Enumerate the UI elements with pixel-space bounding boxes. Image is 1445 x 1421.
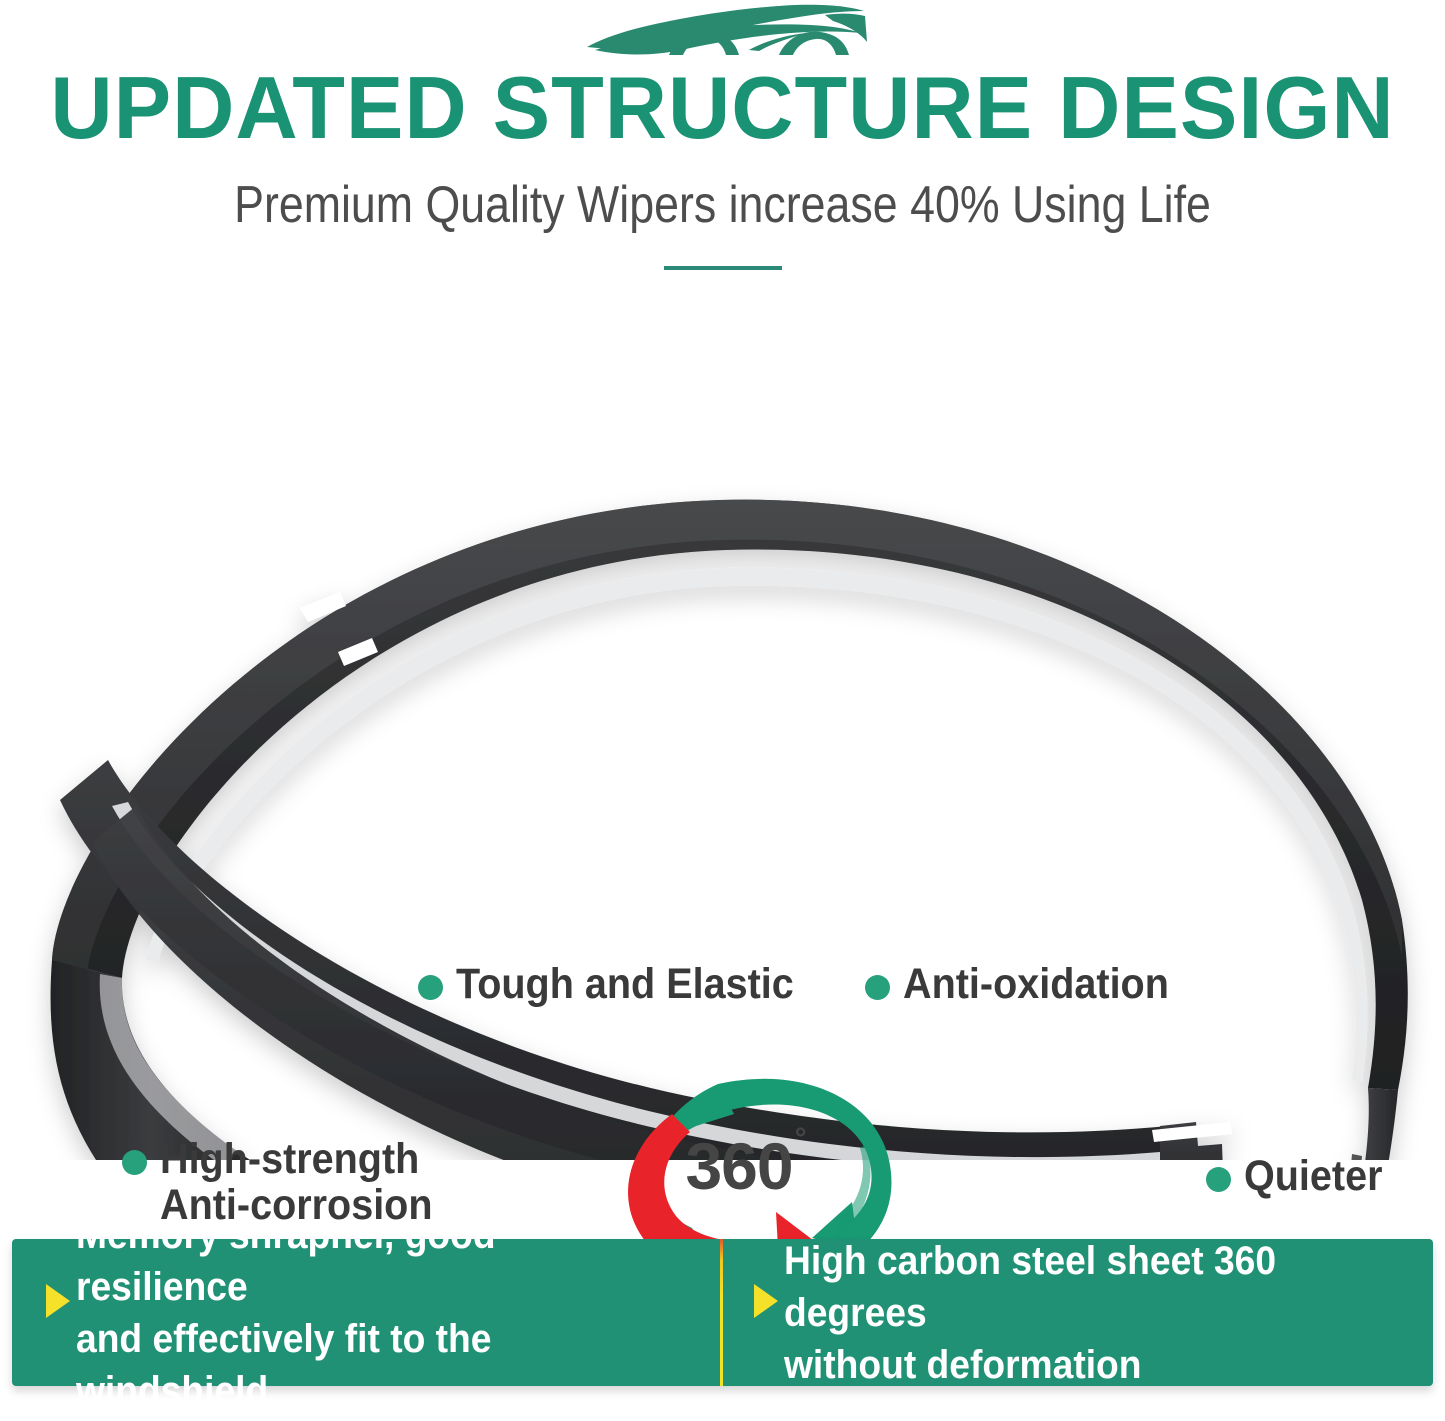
banner-text: Memory shrapnel, good resilience and eff… (76, 1209, 675, 1417)
banner-panel-high-carbon-steel: High carbon steel sheet 360 degrees with… (720, 1239, 1433, 1386)
bottom-feature-banner: Memory shrapnel, good resilience and eff… (12, 1239, 1433, 1386)
feature-tough-and-elastic: Tough and Elastic (418, 961, 823, 1007)
bullet-dot-icon (865, 975, 890, 1000)
banner-panel-memory-shrapnel: Memory shrapnel, good resilience and eff… (12, 1239, 720, 1386)
bullet-dot-icon (418, 975, 443, 1000)
feature-label: Quieter (1244, 1153, 1383, 1199)
banner-text: High carbon steel sheet 360 degrees with… (784, 1235, 1388, 1391)
product-hero-section: Tough and Elastic Anti-oxidation High-st… (0, 400, 1445, 1160)
feature-anti-oxidation: Anti-oxidation (865, 961, 1192, 1007)
feature-quieter: Quieter (1206, 1153, 1395, 1199)
header-section: UPDATED STRUCTURE DESIGN Premium Quality… (0, 0, 1445, 300)
bullet-dot-icon (1206, 1167, 1231, 1192)
page-subtitle: Premium Quality Wipers increase 40% Usin… (101, 175, 1344, 235)
feature-label: Tough and Elastic (456, 961, 794, 1007)
triangle-right-icon (754, 1284, 778, 1318)
feature-label: Anti-oxidation (903, 961, 1169, 1007)
sports-car-silhouette-icon (573, 2, 873, 60)
bullet-dot-icon (122, 1150, 147, 1175)
wiper-blade-steel-strip-image (0, 400, 1445, 1160)
title-divider (664, 266, 782, 270)
page-title: UPDATED STRUCTURE DESIGN (14, 62, 1430, 154)
triangle-right-icon (46, 1284, 70, 1318)
